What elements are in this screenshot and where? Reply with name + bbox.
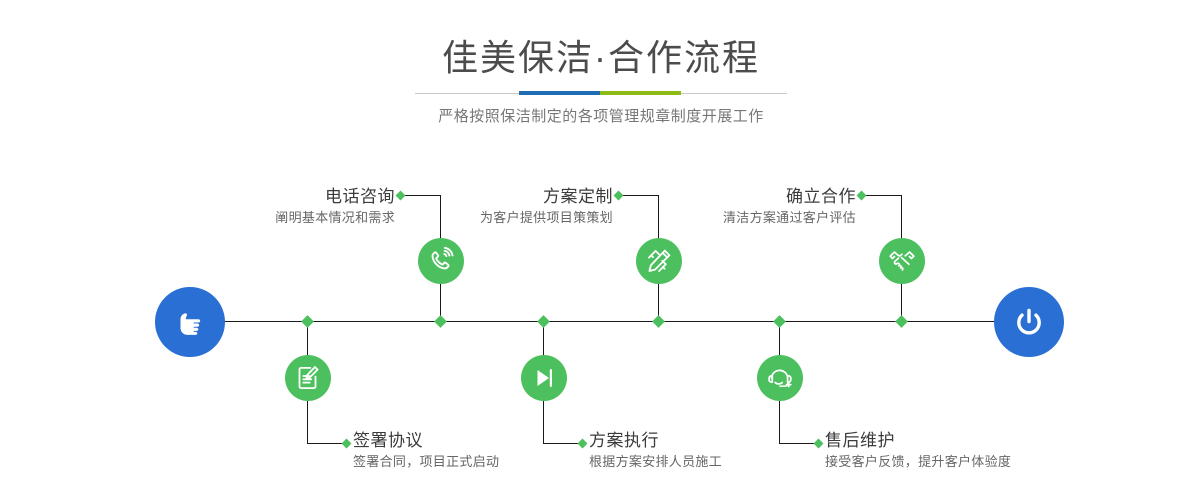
step-title-step-after-sales: 售后维护 [825,430,1085,452]
axis-marker-step-after-sales [773,315,786,328]
step-desc-step-plan-customization: 为客户提供项目策策划 [400,208,613,228]
play-next-icon [531,365,557,391]
header-divider-green-segment [600,91,681,95]
connector-stem-step-establish-cooperation [901,195,902,238]
step-label-step-sign-agreement: 签署协议 签署合同，项目正式启动 [353,430,583,472]
step-desc-step-after-sales: 接受客户反馈，提升客户体验度 [825,452,1085,472]
phone-call-icon [426,246,456,276]
step-title-step-plan-customization: 方案定制 [400,186,613,208]
step-label-step-plan-customization: 方案定制 为客户提供项目策策划 [400,186,613,228]
customer-service-icon [766,364,794,392]
step-label-step-phone-consult: 电话咨询 阐明基本情况和需求 [185,186,395,228]
label-marker-step-establish-cooperation [857,191,867,201]
step-label-step-after-sales: 售后维护 接受客户反馈，提升客户体验度 [825,430,1085,472]
step-icon-step-plan-customization[interactable] [636,238,682,284]
label-marker-step-plan-customization [614,191,624,201]
axis-marker-step-plan-execution [537,315,550,328]
axis-marker-step-sign-agreement [301,315,314,328]
page-title: 佳美保洁·合作流程 [0,36,1202,80]
connector-elbow-step-sign-agreement [307,443,346,444]
step-desc-step-establish-cooperation: 清洁方案通过客户评估 [640,208,856,228]
step-title-step-sign-agreement: 签署协议 [353,430,583,452]
step-desc-step-sign-agreement: 签署合同，项目正式启动 [353,452,583,472]
flow-diagram-page: 佳美保洁·合作流程 严格按照保洁制定的各项管理规章制度开展工作 [0,0,1202,502]
step-icon-step-plan-execution[interactable] [521,355,567,401]
step-desc-step-plan-execution: 根据方案安排人员施工 [589,452,819,472]
pencil-ruler-icon [645,247,673,275]
step-desc-step-phone-consult: 阐明基本情况和需求 [185,208,395,228]
step-title-step-establish-cooperation: 确立合作 [640,186,856,208]
page-subtitle: 严格按照保洁制定的各项管理规章制度开展工作 [0,106,1202,128]
power-icon [1009,302,1049,342]
timeline-start-endpoint [155,287,225,357]
step-icon-step-after-sales[interactable] [757,355,803,401]
connector-stem-step-sign-agreement [307,401,308,443]
step-icon-step-sign-agreement[interactable] [285,355,331,401]
document-edit-icon [294,364,322,392]
label-marker-step-sign-agreement [342,439,352,449]
step-icon-step-phone-consult[interactable] [418,238,464,284]
axis-marker-step-phone-consult [434,315,447,328]
axis-marker-step-plan-customization [652,315,665,328]
axis-marker-step-establish-cooperation [895,315,908,328]
timeline-end-endpoint [994,287,1064,357]
step-title-step-phone-consult: 电话咨询 [185,186,395,208]
header-divider-blue-segment [519,91,600,95]
step-label-step-plan-execution: 方案执行 根据方案安排人员施工 [589,430,819,472]
step-title-step-plan-execution: 方案执行 [589,430,819,452]
pointing-hand-icon [170,302,210,342]
step-icon-step-establish-cooperation[interactable] [879,238,925,284]
handshake-icon [888,247,916,275]
step-label-step-establish-cooperation: 确立合作 清洁方案通过客户评估 [640,186,856,228]
connector-elbow-step-establish-cooperation [861,195,901,196]
